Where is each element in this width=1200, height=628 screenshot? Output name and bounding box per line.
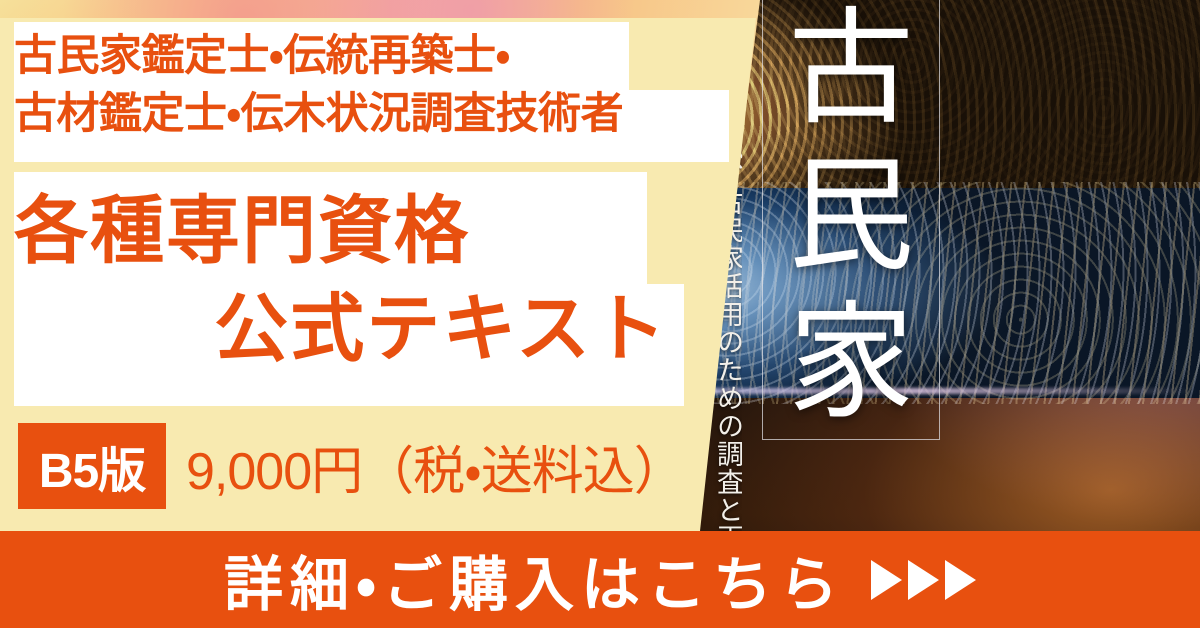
arrow-right-icon — [871, 560, 902, 600]
size-badge: B5版 — [18, 423, 166, 509]
arrow-right-icon — [945, 560, 976, 600]
headline: 古民家鑑定士・伝統再築士・ 古材鑑定士・伝木状況調査技術者 — [14, 28, 726, 143]
promo-banner: 古 民 家 伝統構法、古民家活用のための調査と再生の 古民家鑑定士・伝統再築士・… — [0, 0, 1200, 628]
price-amount: 9,000円（税・送料込） — [186, 429, 685, 504]
cover-title-char-3: 家 — [788, 302, 914, 428]
cover-title: 古 民 家 — [768, 8, 934, 428]
cta-arrows — [871, 560, 976, 600]
headline-line-1: 古民家鑑定士・伝統再築士・ — [14, 28, 726, 86]
cta-label: 詳細・ご購入はこちら — [224, 537, 845, 622]
main-title: 各種専門資格 公式テキスト — [14, 182, 686, 377]
main-title-line-1: 各種専門資格 — [14, 182, 686, 280]
price-row: B5版 9,000円（税・送料込） — [18, 423, 685, 509]
headline-line-2: 古材鑑定士・伝木状況調査技術者 — [14, 86, 726, 144]
cta-button[interactable]: 詳細・ご購入はこちら — [0, 531, 1200, 628]
cover-title-char-2: 民 — [788, 155, 914, 281]
cover-title-char-1: 古 — [788, 8, 914, 134]
arrow-right-icon — [908, 560, 939, 600]
main-title-line-2: 公式テキスト — [14, 280, 686, 378]
